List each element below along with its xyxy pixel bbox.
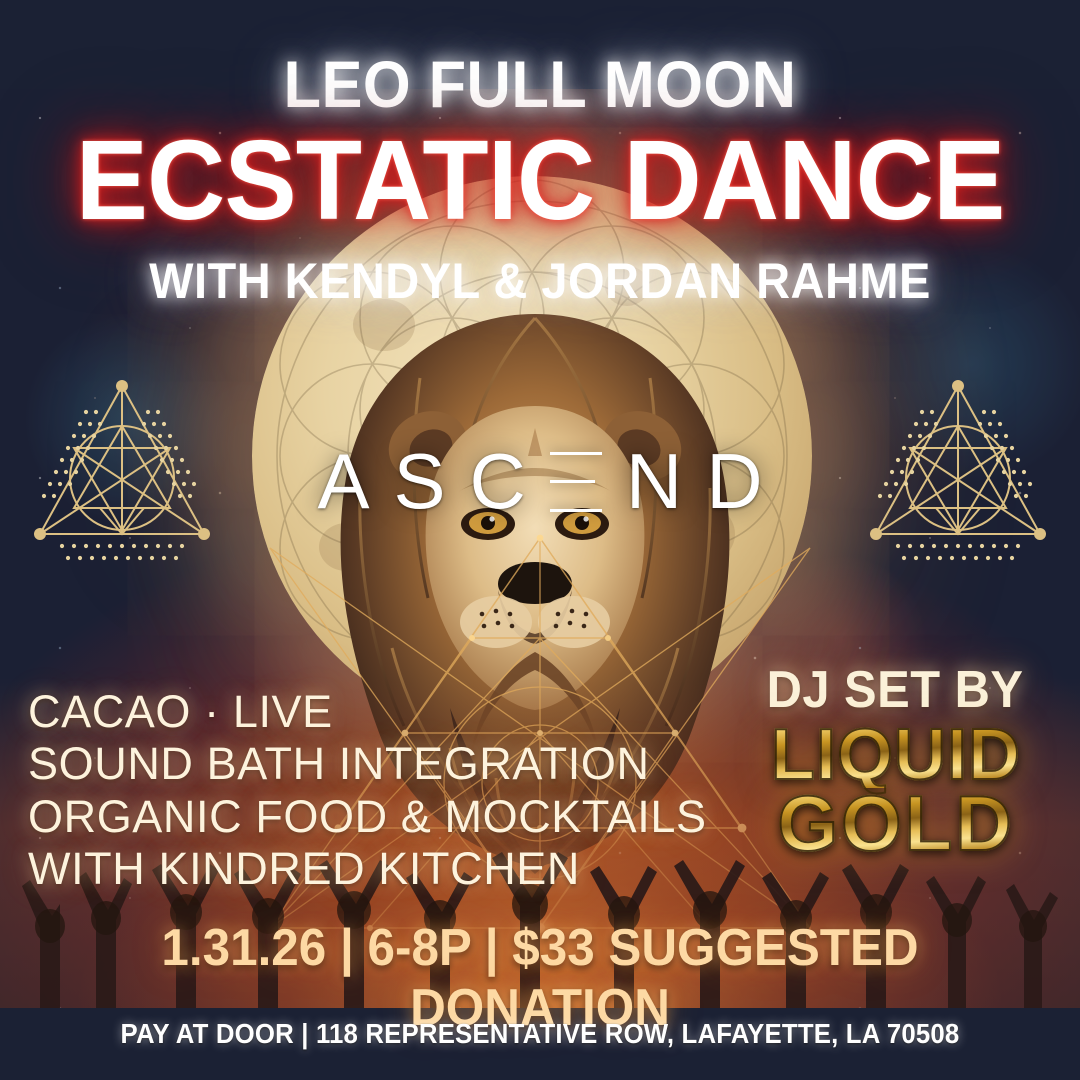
ascend-brand-logo: ASCND bbox=[0, 436, 1080, 527]
ascend-logo-e-glyph bbox=[550, 450, 602, 514]
offerings-list: CACAO · LIVE SOUND BATH INTEGRATION ORGA… bbox=[28, 686, 728, 896]
event-poster: LEO FULL MOON ECSTATIC DANCE WITH KENDYL… bbox=[0, 0, 1080, 1080]
poster-hosts: WITH KENDYL & JORDAN RAHME bbox=[32, 252, 1047, 310]
liquid-gold-line-2: GOLD bbox=[726, 788, 1066, 860]
footer-address-line: PAY AT DOOR | 118 REPRESENTATIVE ROW, LA… bbox=[43, 1018, 1037, 1050]
poster-title: ECSTATIC DANCE bbox=[22, 124, 1059, 237]
poster-kicker: LEO FULL MOON bbox=[38, 46, 1042, 122]
ascend-logo-part-2: ND bbox=[626, 437, 787, 525]
ascend-logo-part-1: ASC bbox=[317, 437, 549, 525]
offering-line-4: WITH KINDRED KITCHEN bbox=[28, 843, 728, 895]
dj-set-label: DJ SET BY bbox=[740, 660, 1050, 720]
liquid-gold-logo: LIQUID GOLD bbox=[726, 722, 1066, 860]
offering-line-2: SOUND BATH INTEGRATION bbox=[28, 738, 728, 790]
offering-line-1: CACAO · LIVE bbox=[28, 686, 728, 738]
offering-line-3: ORGANIC FOOD & MOCKTAILS bbox=[28, 791, 728, 843]
